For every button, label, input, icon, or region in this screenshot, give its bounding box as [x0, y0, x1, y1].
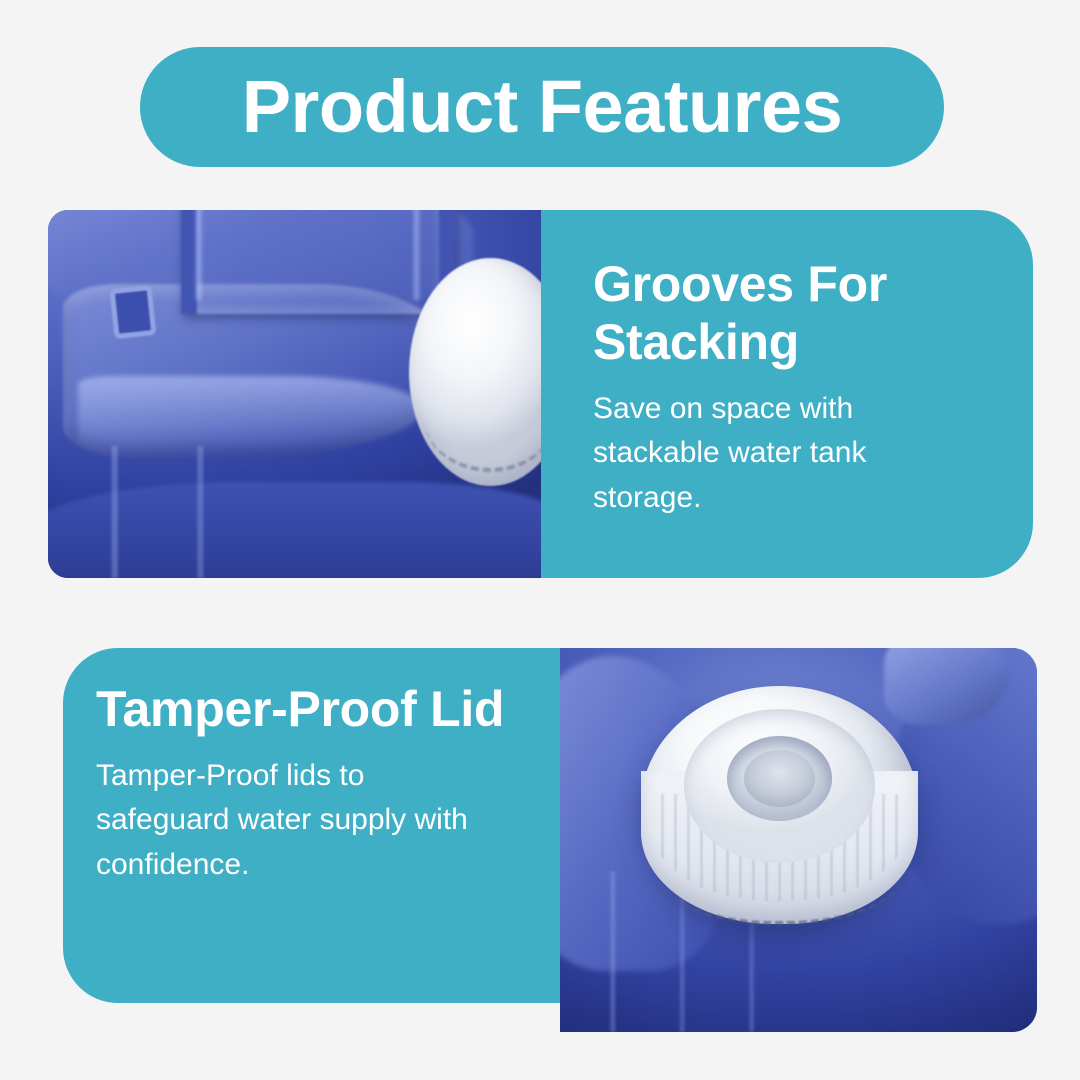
page-header-pill: Product Features	[140, 47, 944, 167]
feature-heading: Grooves For Stacking	[593, 255, 983, 371]
feature-image-tamper-proof-lid	[560, 648, 1037, 1032]
feature-heading: Tamper-Proof Lid	[96, 680, 536, 738]
feature-card-tamper-proof-lid: Tamper-Proof Lid Tamper-Proof lids to sa…	[63, 648, 1037, 1032]
feature-card-grooves-for-stacking: Grooves For Stacking Save on space with …	[48, 210, 1033, 578]
feature-description: Tamper-Proof lids to safeguard water sup…	[96, 754, 496, 887]
vent-tab	[110, 285, 157, 340]
feature-text-panel-grooves-for-stacking: Grooves For Stacking Save on space with …	[541, 210, 1033, 578]
feature-image-grooves-for-stacking	[48, 210, 542, 578]
cap-opening	[744, 750, 816, 808]
tamper-proof-cap-photo	[560, 648, 1037, 1032]
white-cap-seal-ring	[423, 357, 542, 471]
container-side-ribs	[68, 446, 374, 578]
feature-description: Save on space with stackable water tank …	[593, 387, 983, 520]
page-title: Product Features	[242, 70, 843, 144]
water-container-handle-photo	[48, 210, 542, 578]
carry-handle-highlight	[196, 210, 418, 300]
